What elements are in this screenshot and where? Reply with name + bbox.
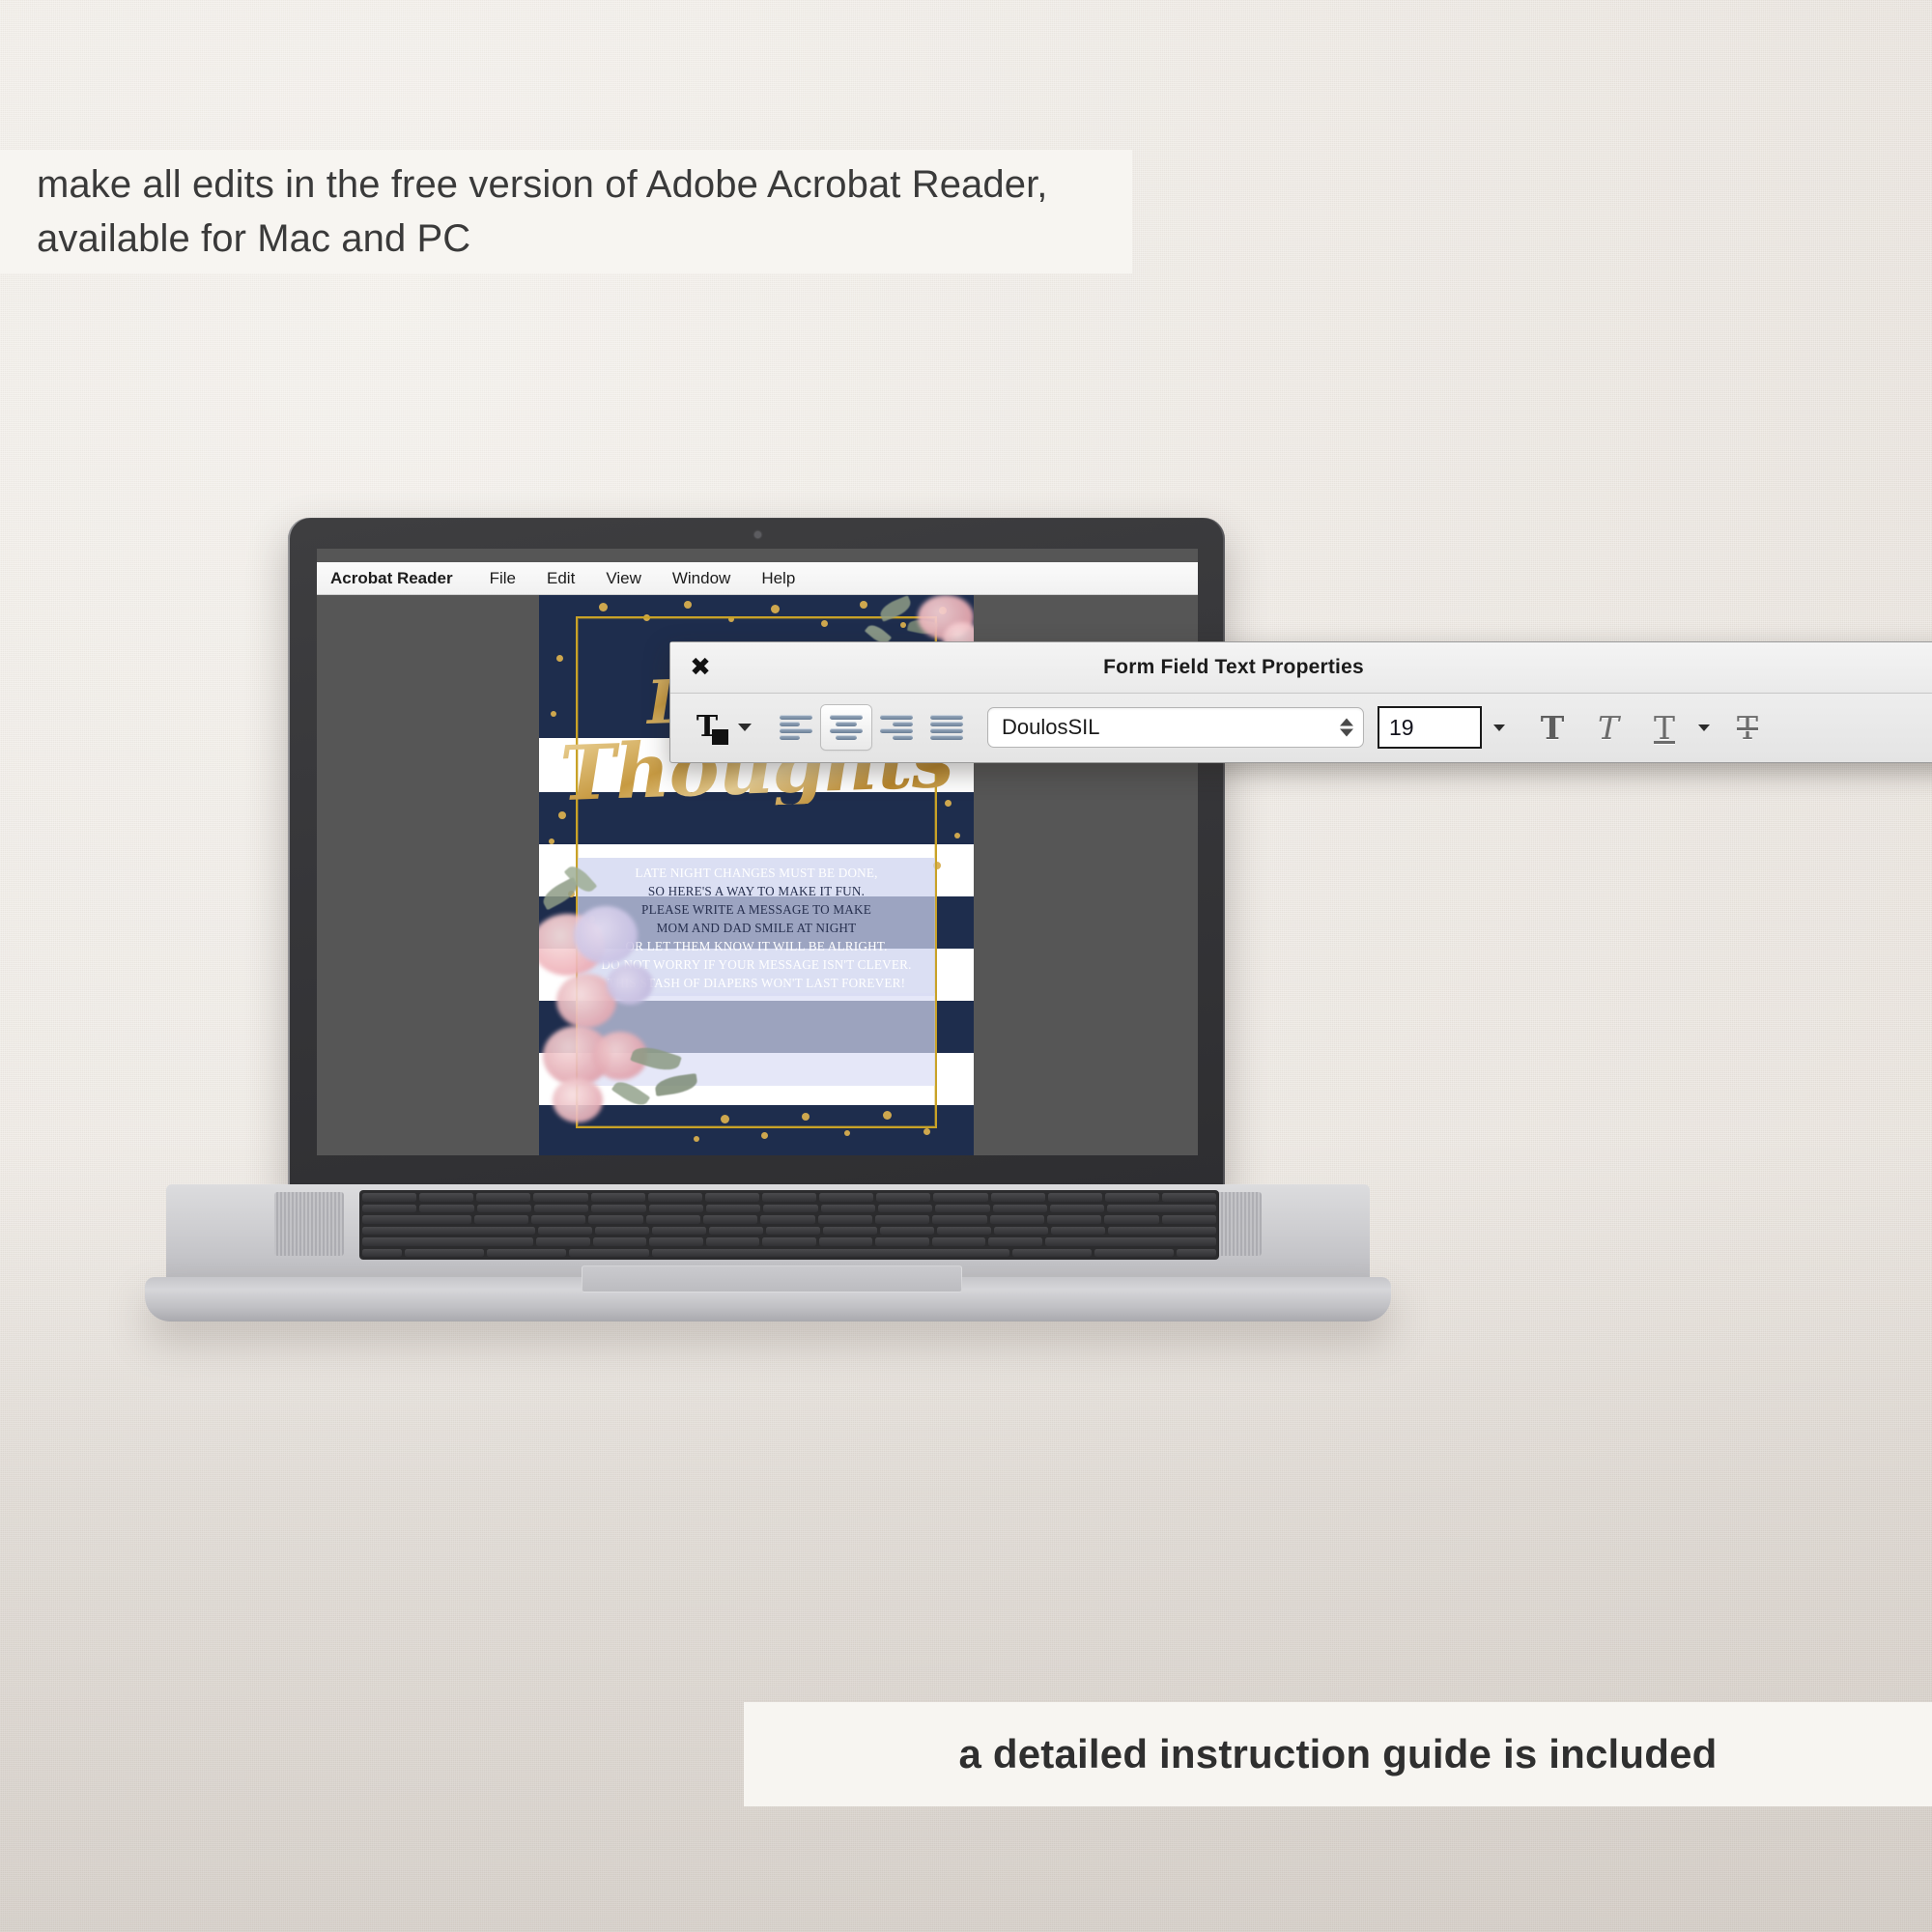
- italic-button[interactable]: T: [1580, 704, 1636, 751]
- poem-line: LATE NIGHT CHANGES MUST BE DONE,: [583, 864, 929, 882]
- laptop-mockup: Acrobat Reader File Edit View Window Hel…: [145, 518, 1391, 1242]
- font-family-select[interactable]: DoulosSIL: [987, 707, 1364, 748]
- menu-bar: Acrobat Reader File Edit View Window Hel…: [317, 562, 1198, 595]
- align-justify-icon: [930, 715, 963, 740]
- keyboard-row-shift: [362, 1237, 1216, 1246]
- align-left-button[interactable]: [771, 705, 821, 750]
- bottom-caption-banner: a detailed instruction guide is included: [744, 1702, 1932, 1806]
- keyboard-row-numbers: [362, 1205, 1216, 1213]
- top-caption-line-1: make all edits in the free version of Ad…: [37, 157, 1132, 212]
- keyboard[interactable]: [359, 1190, 1219, 1260]
- keyboard-row-home: [362, 1227, 1216, 1236]
- align-right-button[interactable]: [871, 705, 922, 750]
- underline-dropdown-icon[interactable]: [1698, 724, 1710, 731]
- top-caption-line-2: available for Mac and PC: [37, 212, 1132, 266]
- trackpad[interactable]: [582, 1265, 962, 1293]
- text-color-button[interactable]: T: [682, 705, 732, 750]
- menu-item-window[interactable]: Window: [657, 569, 746, 588]
- text-color-icon: T: [696, 713, 718, 742]
- webcam-icon: [754, 531, 761, 538]
- top-caption-banner: make all edits in the free version of Ad…: [0, 150, 1132, 273]
- underline-button[interactable]: T: [1636, 704, 1692, 751]
- font-size-value: 19: [1389, 715, 1414, 741]
- keyboard-row-qwerty: [362, 1215, 1216, 1224]
- poem-line: SO HERE'S A WAY TO MAKE IT FUN.: [583, 882, 929, 900]
- bottom-caption-text: a detailed instruction guide is included: [958, 1731, 1717, 1777]
- dialog-title-bar: ✖ Form Field Text Properties: [670, 642, 1932, 694]
- speaker-grille-left: [274, 1192, 344, 1256]
- keyboard-row-space: [362, 1249, 1216, 1258]
- font-size-input[interactable]: 19: [1378, 706, 1482, 749]
- menu-item-help[interactable]: Help: [746, 569, 810, 588]
- keyboard-row-function: [362, 1193, 1216, 1202]
- laptop-base: [145, 1184, 1391, 1339]
- menu-item-view[interactable]: View: [590, 569, 657, 588]
- menu-item-edit[interactable]: Edit: [531, 569, 590, 588]
- form-field-text-properties-dialog[interactable]: ✖ Form Field Text Properties T: [669, 641, 1932, 763]
- menu-item-file[interactable]: File: [474, 569, 531, 588]
- align-right-icon: [880, 715, 913, 740]
- font-family-stepper-icon[interactable]: [1340, 719, 1353, 737]
- dialog-toolbar: T DoulosSIL: [670, 694, 1932, 761]
- align-justify-button[interactable]: [922, 705, 972, 750]
- laptop-screen: Acrobat Reader File Edit View Window Hel…: [317, 549, 1198, 1155]
- align-center-button[interactable]: [821, 705, 871, 750]
- text-color-dropdown-icon[interactable]: [738, 724, 752, 731]
- screenshot-stage: make all edits in the free version of Ad…: [0, 0, 1932, 1932]
- font-family-value: DoulosSIL: [1002, 715, 1100, 740]
- acrobat-reader-window: Acrobat Reader File Edit View Window Hel…: [317, 549, 1198, 1155]
- strikethrough-button[interactable]: T: [1719, 704, 1776, 751]
- poem-line: PLEASE WRITE A MESSAGE TO MAKE: [583, 900, 929, 919]
- font-size-dropdown-icon[interactable]: [1493, 724, 1505, 731]
- bold-button[interactable]: T: [1524, 704, 1580, 751]
- align-center-icon: [830, 715, 863, 740]
- menu-item-acrobat-reader[interactable]: Acrobat Reader: [330, 569, 474, 588]
- align-left-icon: [780, 715, 812, 740]
- dialog-title: Form Field Text Properties: [670, 656, 1932, 679]
